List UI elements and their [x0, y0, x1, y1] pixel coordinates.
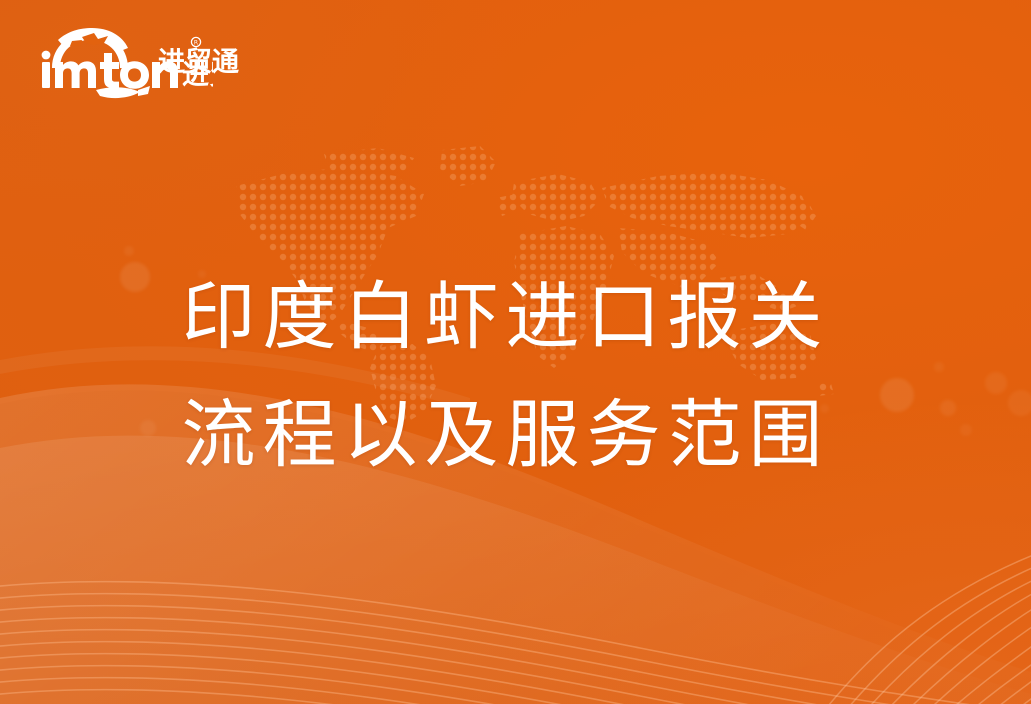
logo-chinese-name-overlay: 进贸通 [158, 48, 239, 78]
logo-chinese-name-text: 进贸通 [158, 47, 239, 78]
registered-trademark-icon: R [191, 37, 200, 46]
svg-text:R: R [194, 40, 198, 47]
headline-line-2: 流程以及服务范围 [0, 376, 1011, 494]
headline-line-1: 印度白虾进口报关 [0, 258, 1011, 376]
promotional-banner: 进贸通 R 进贸通 印度白虾进口报关 流程以及服务范围 [0, 0, 1031, 704]
headline-block: 印度白虾进口报关 流程以及服务范围 [0, 258, 1031, 494]
